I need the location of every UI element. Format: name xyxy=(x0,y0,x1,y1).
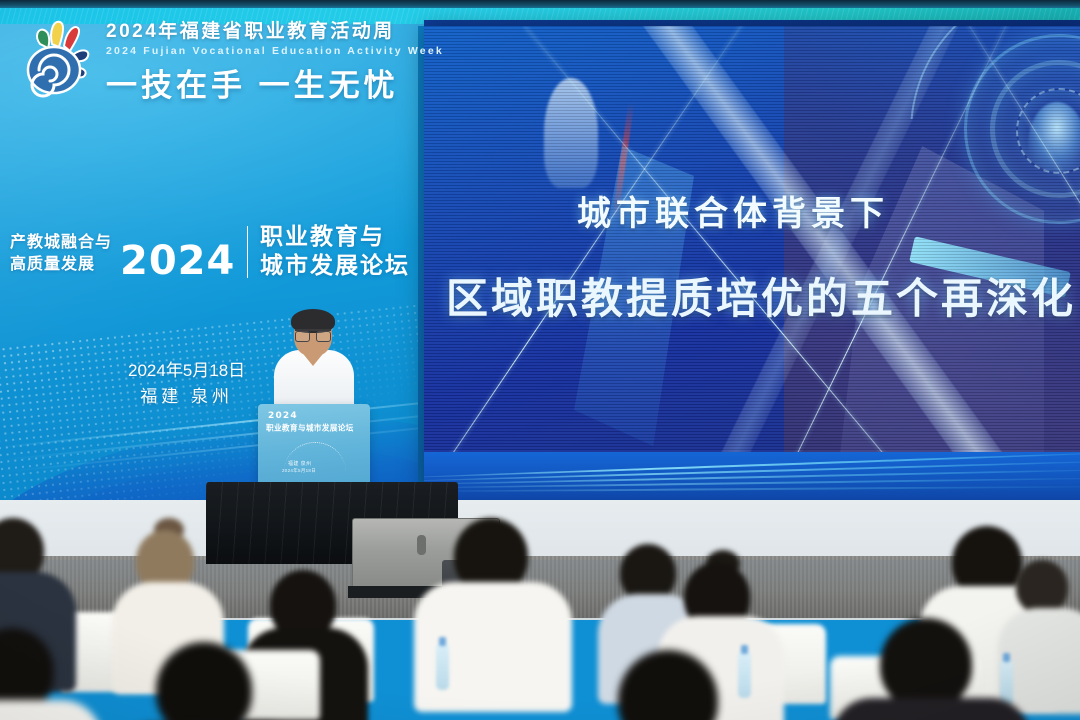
podium-location: 福建 泉州 xyxy=(288,460,311,467)
presenter-at-podium xyxy=(272,312,356,416)
podium-date: 2024年5月18日 xyxy=(282,468,316,474)
forum-divider xyxy=(247,226,248,278)
podium-year: 2024 xyxy=(268,411,298,421)
forum-theme-line1: 产教城融合与 xyxy=(10,232,112,254)
forum-date: 2024年5月18日 xyxy=(128,358,245,384)
water-bottle xyxy=(738,652,751,698)
forum-name: 职业教育与 城市发展论坛 xyxy=(260,222,410,280)
glasses-icon xyxy=(295,329,331,338)
podium-title: 职业教育与城市发展论坛 xyxy=(266,423,354,434)
banner-slogan: 一技在手 一生无忧 xyxy=(106,60,444,105)
banner-title-en: 2024 Fujian Vocational Education Activit… xyxy=(106,45,444,57)
seated-audience xyxy=(0,500,1080,720)
hand-spiral-logo-icon xyxy=(22,18,96,98)
forum-year: 2024 xyxy=(120,242,235,280)
forum-theme-line2: 高质量发展 xyxy=(10,254,112,276)
forum-name-line1: 职业教育与 xyxy=(260,222,410,251)
screen-title-group: 城市联合体背景下 区域职教提质培优的五个再深化 xyxy=(424,26,1080,496)
podium-lectern: 2024 职业教育与城市发展论坛 福建 泉州 2024年5月18日 xyxy=(258,404,370,488)
forum-title-lockup: 产教城融合与 高质量发展 2024 职业教育与 城市发展论坛 xyxy=(10,222,410,280)
forum-name-line2: 城市发展论坛 xyxy=(260,251,410,280)
banner-title-cn: 2024年福建省职业教育活动周 xyxy=(106,16,444,43)
event-banner-header: 2024年福建省职业教育活动周 2024 Fujian Vocational E… xyxy=(22,12,422,108)
led-presentation-screen: 城市联合体背景下 区域职教提质培优的五个再深化 xyxy=(424,26,1080,496)
screen-title-line2: 区域职教提质培优的五个再深化 xyxy=(424,265,1080,326)
water-bottle xyxy=(436,644,449,690)
conference-photo: 城市联合体背景下 区域职教提质培优的五个再深化 xyxy=(0,0,1080,720)
banner-text-group: 2024年福建省职业教育活动周 2024 Fujian Vocational E… xyxy=(106,16,444,105)
forum-meta: 2024年5月18日 福建 泉州 xyxy=(128,358,245,409)
screen-title-line1: 城市联合体背景下 xyxy=(424,186,1080,235)
forum-theme: 产教城融合与 高质量发展 xyxy=(10,232,112,279)
forum-location: 福建 泉州 xyxy=(128,384,245,410)
